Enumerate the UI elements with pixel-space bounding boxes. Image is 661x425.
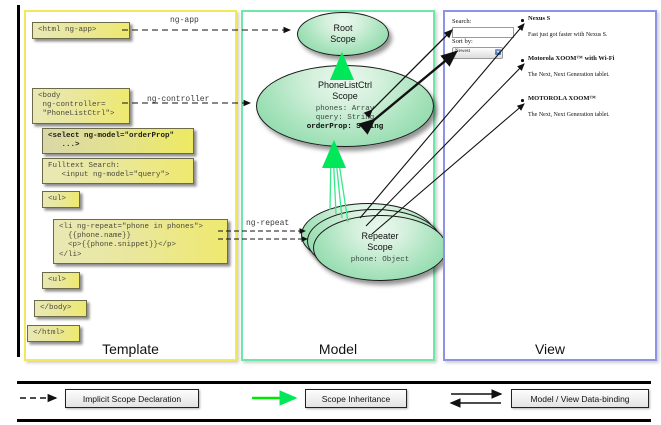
phone-name: MOTOROLA XOOM™ — [528, 95, 596, 102]
panel-template-label: Template — [26, 341, 235, 357]
list-bullet — [521, 99, 524, 102]
arrow-label-ng-controller: ng-controller — [147, 95, 209, 104]
scope-repeater-title: RepeaterScope — [361, 231, 398, 253]
view-sort-label: Sort by: — [452, 38, 473, 45]
arrow-label-ng-repeat: ng-repeat — [246, 219, 289, 228]
phone-name: Nexus S — [528, 15, 550, 22]
legend-bottom-rule — [17, 419, 651, 422]
phone-snippet: The Next, Next Generation tablet. — [528, 112, 610, 118]
scope-repeater-props: phone: Object — [351, 256, 410, 265]
panel-model-label: Model — [243, 341, 433, 357]
view-sort-select[interactable]: Newest — [452, 47, 503, 59]
scope-phonelistctrl-props: phones: Arrayquery: StringorderProp: Str… — [307, 105, 384, 132]
panel-model: Model — [241, 10, 435, 361]
legend-scope-inheritance-label: Scope Inheritance — [322, 394, 391, 404]
arrow-label-ng-app: ng-app — [170, 16, 199, 25]
scope-root: RootScope — [297, 12, 389, 56]
view-search-label: Search: — [452, 18, 472, 25]
legend-implicit-scope-declaration-label: Implicit Scope Declaration — [83, 394, 181, 404]
view-sort-select-value: Newest — [455, 49, 470, 54]
list-bullet — [521, 59, 524, 62]
view-search-input[interactable] — [452, 27, 514, 38]
phone-snippet: Fast just got faster with Nexus S. — [528, 32, 608, 38]
code-ul-open: <ul> — [42, 191, 80, 208]
scope-root-title: RootScope — [330, 23, 356, 45]
code-body-open: <body ng-controller= "PhoneListCtrl"> — [32, 88, 130, 124]
scope-repeater: RepeaterScope phone: Object — [313, 215, 447, 281]
code-li-repeat: <li ng-repeat="phone in phones"> {{phone… — [53, 219, 228, 264]
code-body-close: </body> — [34, 300, 87, 317]
code-html-close: </html> — [27, 325, 80, 342]
list-bullet — [521, 19, 524, 22]
phone-name: Motorola XOOM™ with Wi-Fi — [528, 55, 614, 62]
left-vertical-rule — [17, 5, 20, 357]
diagram-stage: Template <html ng-app> <body ng-controll… — [0, 0, 661, 425]
code-search-input: Fulltext Search: <input ng-model="query"… — [42, 158, 194, 184]
code-ul-close: <ul> — [42, 272, 80, 289]
legend-model-view-data-binding-label: Model / View Data-binding — [530, 394, 629, 404]
code-html-open: <html ng-app> — [32, 22, 130, 39]
scope-phonelistctrl-title: PhoneListCtrlScope — [318, 80, 372, 102]
scope-phonelistctrl: PhoneListCtrlScope phones: Arrayquery: S… — [256, 65, 434, 147]
panel-view-label: View — [445, 341, 655, 357]
chevron-down-icon — [495, 49, 501, 55]
legend-scope-inheritance: Scope Inheritance — [305, 389, 407, 408]
legend-implicit-scope-declaration: Implicit Scope Declaration — [65, 389, 199, 408]
code-select-block: <select ng-model="orderProp" ...> — [42, 128, 194, 154]
legend-top-rule — [17, 381, 651, 384]
phone-snippet: The Next, Next Generation tablet. — [528, 72, 610, 78]
panel-view: View — [443, 10, 657, 361]
legend-model-view-data-binding: Model / View Data-binding — [511, 389, 649, 408]
